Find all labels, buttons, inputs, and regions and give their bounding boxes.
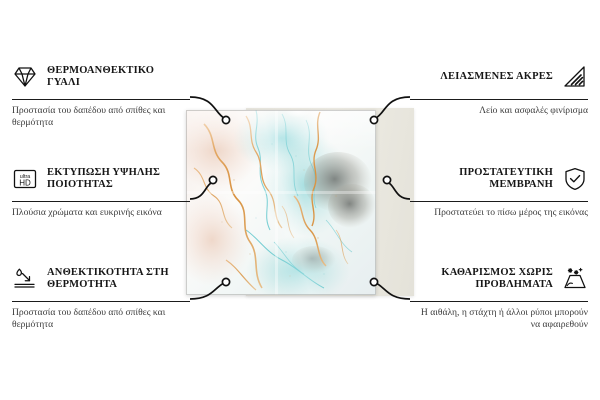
feature-title: ΑΝΘΕΚΤΙΚΟΤΗΤΑ ΣΤΗ ΘΕΡΜΟΤΗΤΑ [47,267,190,292]
feature-title: ΕΚΤΥΠΩΣΗ ΥΨΗΛΗΣ ΠΟΙΟΤΗΤΑΣ [47,167,190,192]
panel-edge-outline [186,110,376,295]
feature-high-quality-print: ultra HD ΕΚΤΥΠΩΣΗ ΥΨΗΛΗΣ ΠΟΙΟΤΗΤΑΣ Πλούσ… [12,162,190,219]
feature-header: ΑΝΘΕΚΤΙΚΟΤΗΤΑ ΣΤΗ ΘΕΡΜΟΤΗΤΑ [12,262,190,296]
feature-header: ΚΑΘΑΡΙΣΜΟΣ ΧΩΡΙΣ ΠΡΟΒΛΗΜΑΤΑ [410,262,588,296]
sparkle-clean-icon [562,266,588,292]
feature-header: ΠΡΟΣΤΑΤΕΥΤΙΚΗ ΜΕΜΒΡΑΝΗ [410,162,588,196]
feature-divider [12,99,190,100]
feature-header: ΘΕΡΜΟΑΝΘΕΚΤΙΚΟ ΓΥΑΛΙ [12,60,190,94]
feature-title: ΠΡΟΣΤΑΤΕΥΤΙΚΗ ΜΕΜΒΡΑΝΗ [410,167,553,192]
feature-description: Η αιθάλη, η στάχτη ή άλλοι ρύποι μπορούν… [410,307,588,330]
feature-divider [12,201,190,202]
feature-header: ΛΕΙΑΣΜΕΝΕΣ ΑΚΡΕΣ [410,60,588,94]
feature-title: ΛΕΙΑΣΜΕΝΕΣ ΑΚΡΕΣ [410,71,553,83]
feature-protective-membrane: ΠΡΟΣΤΑΤΕΥΤΙΚΗ ΜΕΜΒΡΑΝΗ Προστατεύει το πί… [410,162,588,219]
feature-title: ΘΕΡΜΟΑΝΘΕΚΤΙΚΟ ΓΥΑΛΙ [47,65,190,90]
feature-heat-resistant-glass: ΘΕΡΜΟΑΝΘΕΚΤΙΚΟ ΓΥΑΛΙ Προστασία του δαπέδ… [12,60,190,128]
feature-polished-edges: ΛΕΙΑΣΜΕΝΕΣ ΑΚΡΕΣ Λείο και ασφαλές φινίρι… [410,60,588,117]
product-image [186,110,414,295]
flame-surface-icon [12,266,38,292]
feature-divider [12,301,190,302]
feature-divider [410,201,588,202]
feature-heat-durability: ΑΝΘΕΚΤΙΚΟΤΗΤΑ ΣΤΗ ΘΕΡΜΟΤΗΤΑ Προστασία το… [12,262,190,330]
feature-divider [410,99,588,100]
feature-description: Προστασία του δαπέδου από σπίθες και θερ… [12,105,190,128]
feature-description: Πλούσια χρώματα και ευκρινής εικόνα [12,207,190,219]
diagonal-lines-icon [562,64,588,90]
infographic-stage: ΘΕΡΜΟΑΝΘΕΚΤΙΚΟ ΓΥΑΛΙ Προστασία του δαπέδ… [0,0,600,400]
feature-description: Λείο και ασφαλές φινίρισμα [410,105,588,117]
product-panel-front [186,110,376,295]
feature-title: ΚΑΘΑΡΙΣΜΟΣ ΧΩΡΙΣ ΠΡΟΒΛΗΜΑΤΑ [410,267,553,292]
feature-description: Προστασία του δαπέδου από σπίθες και θερ… [12,307,190,330]
feature-description: Προστατεύει το πίσω μέρος της εικόνας [410,207,588,219]
svg-text:HD: HD [19,178,31,187]
feature-header: ultra HD ΕΚΤΥΠΩΣΗ ΥΨΗΛΗΣ ΠΟΙΟΤΗΤΑΣ [12,162,190,196]
feature-easy-cleaning: ΚΑΘΑΡΙΣΜΟΣ ΧΩΡΙΣ ΠΡΟΒΛΗΜΑΤΑ Η αιθάλη, η … [410,262,588,330]
ultra-hd-icon: ultra HD [12,166,38,192]
shield-check-icon [562,166,588,192]
feature-divider [410,301,588,302]
diamond-icon [12,64,38,90]
